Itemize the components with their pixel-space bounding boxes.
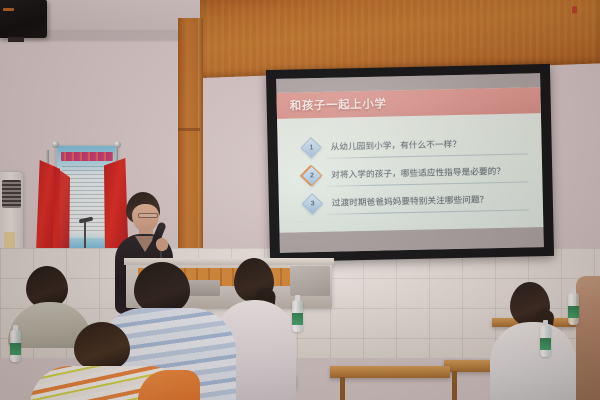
air-conditioner-vent — [2, 180, 21, 208]
board-mount-knob-right — [114, 141, 121, 148]
slide-bullet-2: 2 对将入学的孩子，哪些适应性指导是必要的？ — [304, 157, 531, 188]
wall-red-marker — [572, 6, 577, 13]
slide-body: 1 从幼儿园到小学，有什么不一样？ 2 对将入学的孩子，哪些适应性指导是必要的？ — [277, 113, 543, 233]
attendee-right-edge — [576, 276, 600, 400]
bullet-number-2: 2 — [310, 172, 314, 179]
presenter-glasses — [138, 213, 158, 218]
pillar-seam — [178, 128, 200, 131]
bullet-text-1: 从幼儿园到小学，有什么不一样？ — [330, 138, 461, 153]
bullet-text-3: 过渡时期爸爸妈妈要特别关注哪些问题？ — [332, 193, 489, 208]
bullet-number-badge-2: 2 — [301, 165, 322, 186]
desk-leg-a — [452, 371, 457, 400]
pillar-edge — [198, 18, 203, 268]
board-mount-knob-left — [52, 141, 59, 148]
classroom-photo: 和孩子一起上小学 1 从幼儿园到小学，有什么不一样？ 2 — [0, 0, 600, 400]
water-bottle — [10, 330, 21, 362]
monitor-led-strip — [3, 8, 14, 11]
presentation-slide: 和孩子一起上小学 1 从幼儿园到小学，有什么不一样？ 2 — [276, 87, 543, 233]
monitor-mount-bracket — [8, 37, 24, 42]
air-conditioner-label — [4, 232, 15, 248]
slide-footer-mark: ····· — [293, 219, 303, 225]
bullet-number-badge-3: 3 — [302, 193, 323, 214]
water-bottle — [540, 325, 551, 357]
bullet-underline-3 — [327, 209, 529, 214]
slide-title: 和孩子一起上小学 — [290, 96, 387, 114]
bullet-text-2: 对将入学的孩子，哪些适应性指导是必要的？ — [331, 165, 505, 181]
attendee-head — [134, 262, 190, 314]
attendee-torso — [490, 322, 576, 400]
board-heading-banner — [61, 152, 113, 161]
water-bottle — [568, 293, 579, 325]
bullet-number-3: 3 — [310, 200, 314, 207]
slide-bullet-1: 1 从幼儿园到小学，有什么不一样？ — [303, 129, 530, 160]
wall-mounted-monitor — [0, 0, 47, 38]
attendee-head — [74, 322, 130, 370]
desk-center — [330, 366, 450, 378]
attendee-orange-stripes — [30, 322, 200, 400]
desk-leg-c — [340, 377, 345, 400]
bullet-number-badge-1: 1 — [301, 137, 322, 158]
bullet-number-1: 1 — [309, 144, 313, 151]
water-bottle — [292, 300, 303, 332]
projection-screen: 和孩子一起上小学 1 从幼儿园到小学，有什么不一样？ 2 — [266, 64, 554, 262]
slide-bullet-3: 3 过渡时期爸爸妈妈要特别关注哪些问题？ — [305, 185, 532, 216]
projection-surface: 和孩子一起上小学 1 从幼儿园到小学，有什么不一样？ 2 — [276, 73, 544, 253]
